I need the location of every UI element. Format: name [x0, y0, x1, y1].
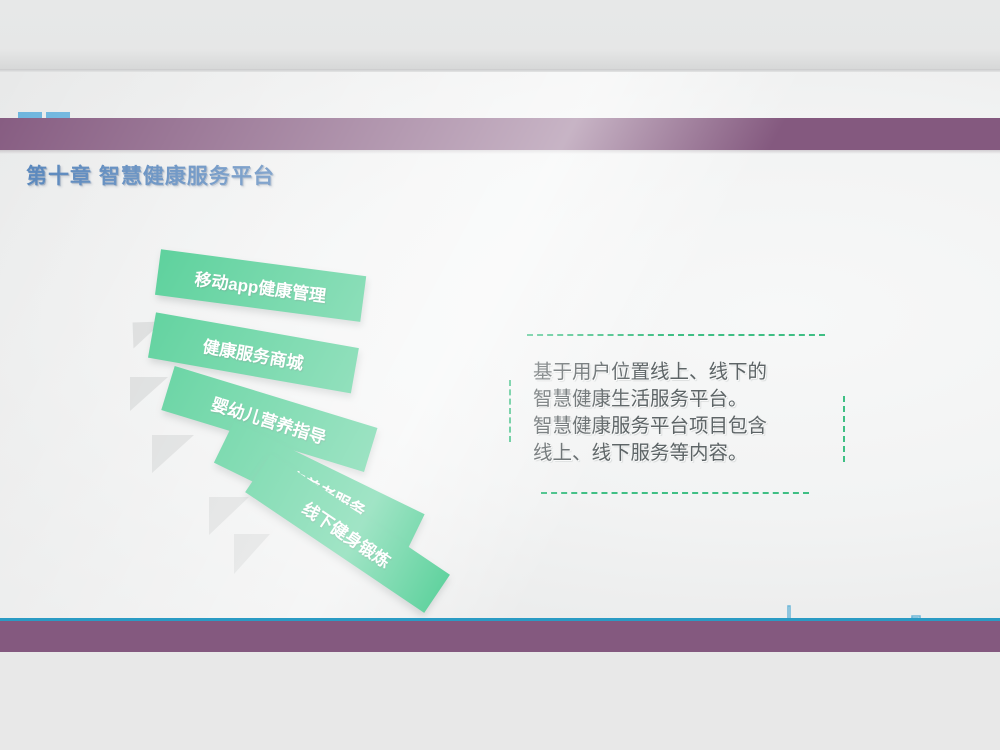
footer-accent-bar [0, 621, 1000, 652]
banner-label-2: 健康服务商城 [201, 332, 306, 374]
frame-line-top [527, 334, 825, 336]
top-chrome-band [0, 0, 1000, 70]
frame-line-right [843, 396, 845, 462]
bottom-chrome-band [0, 652, 1000, 750]
slide-surface: 第十章 智慧健康服务平台 移动app健康管理 健康服务商城 婴幼儿营养指导 居家… [0, 72, 1000, 652]
slide-canvas: 第十章 智慧健康服务平台 移动app健康管理 健康服务商城 婴幼儿营养指导 居家… [0, 0, 1000, 750]
frame-line-left [509, 380, 511, 442]
banner-label-1: 移动app健康管理 [193, 264, 327, 306]
banner-fold-4 [209, 497, 249, 535]
banner-fold-5 [234, 534, 270, 574]
banner-fold-3 [152, 435, 194, 473]
banner-item-1[interactable]: 移动app健康管理 [155, 249, 366, 322]
banner-fan-group: 移动app健康管理 健康服务商城 婴幼儿营养指导 居家养老服务 线下健身锻炼 [0, 72, 1000, 652]
frame-line-bottom [541, 492, 809, 494]
description-block: 基于用户位置线上、线下的 智慧健康生活服务平台。 智慧健康服务平台项目包含 线上… [505, 330, 850, 500]
description-text: 基于用户位置线上、线下的 智慧健康生活服务平台。 智慧健康服务平台项目包含 线上… [533, 358, 833, 466]
